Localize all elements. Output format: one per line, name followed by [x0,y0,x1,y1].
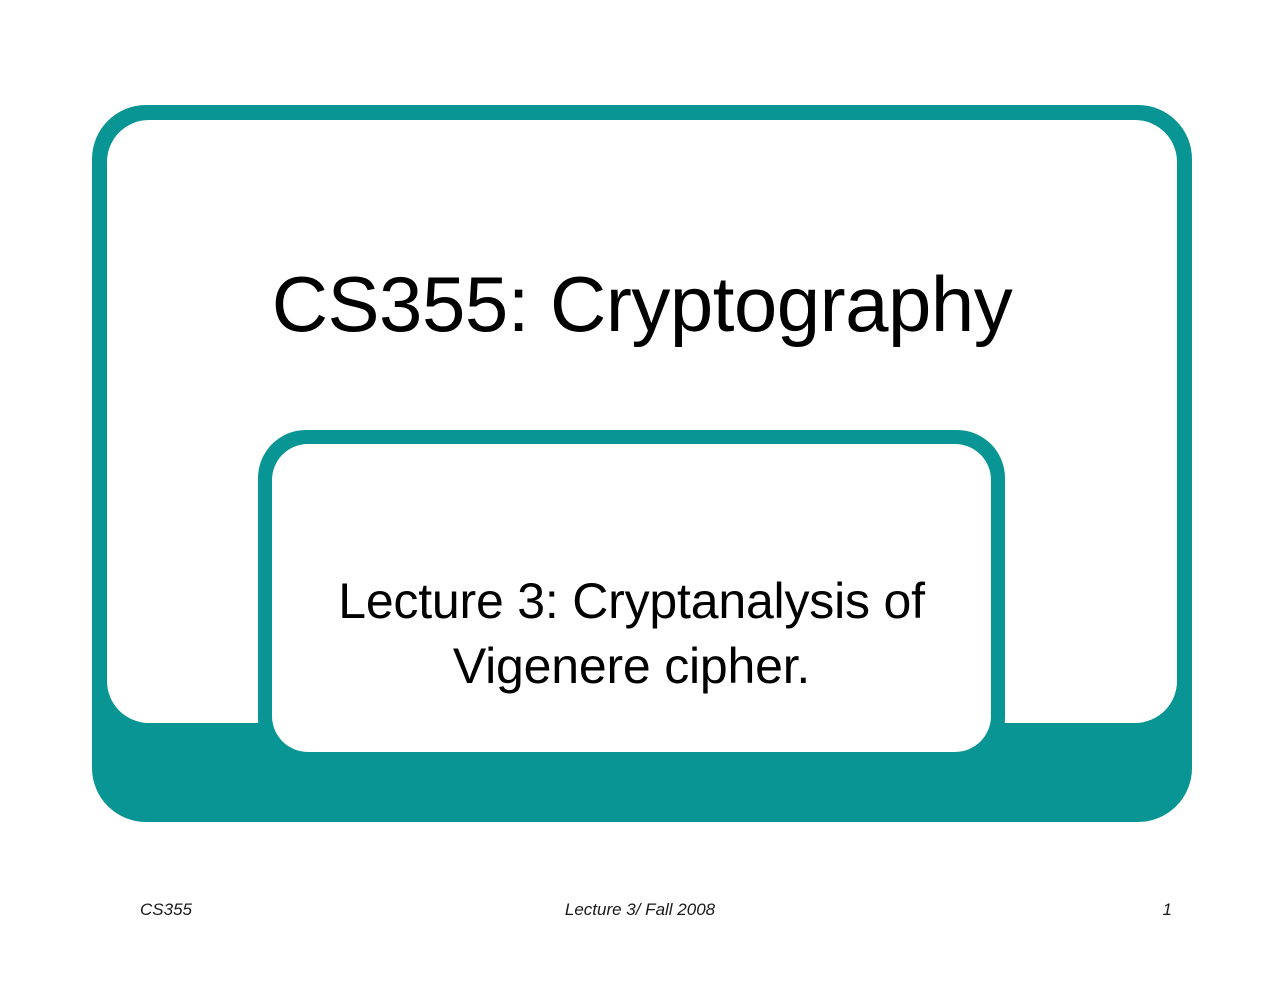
subtitle-placeholder[interactable]: Lecture 3: Cryptanalysis of Vigenere cip… [258,430,1005,766]
subtitle-line-1: Lecture 3: Cryptanalysis of [338,569,925,634]
slide-canvas: CS355: Cryptography Lecture 3: Cryptanal… [0,0,1280,989]
footer-slide-number: 1 [1000,893,1172,927]
slide-footer: CS355 Lecture 3/ Fall 2008 1 [0,893,1280,927]
subtitle-line-2: Vigenere cipher. [453,634,810,699]
subtitle-text: Lecture 3: Cryptanalysis of Vigenere cip… [272,444,991,752]
